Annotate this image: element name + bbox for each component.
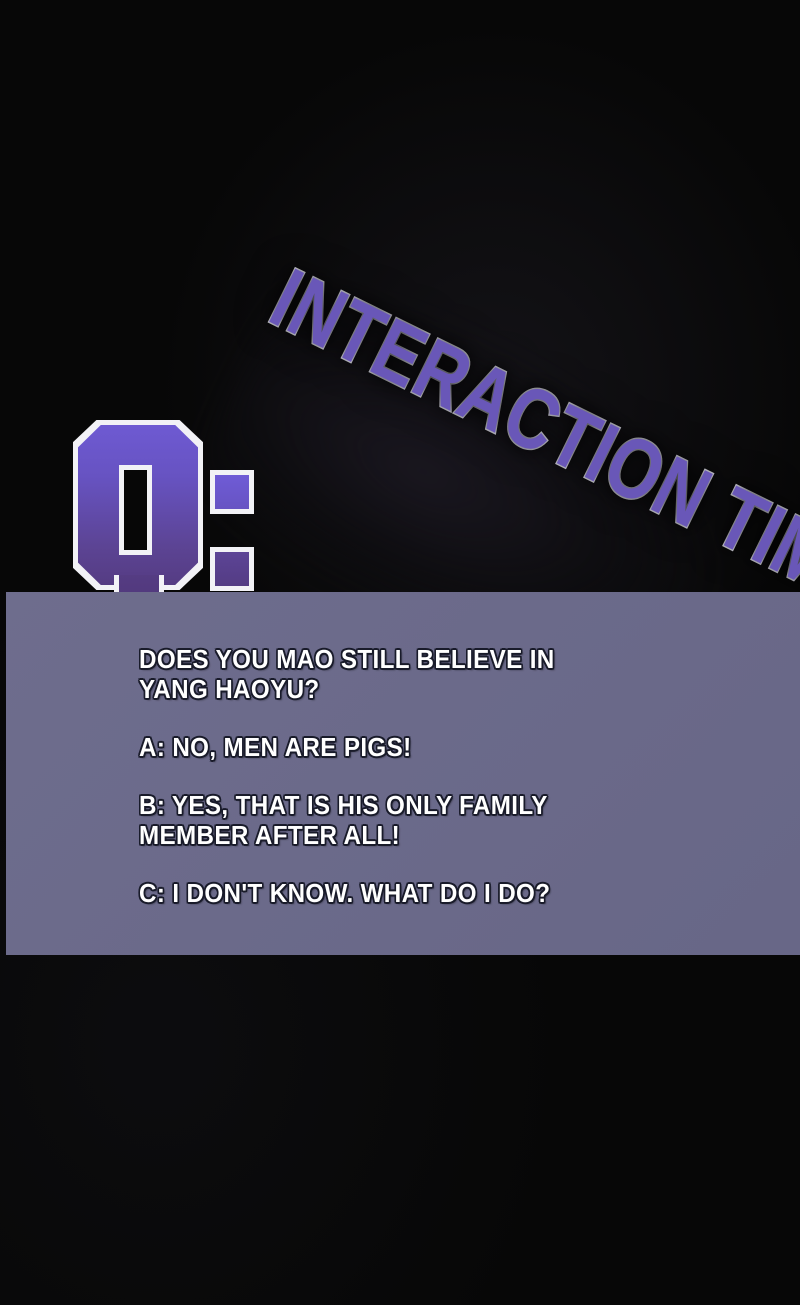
colon-top-square — [210, 470, 254, 514]
question-marker-q-colon — [78, 425, 278, 620]
headline-interaction-time: INTERACTION TIME — [259, 255, 800, 649]
colon-bottom-square — [210, 547, 254, 591]
spacer — [139, 850, 759, 878]
question-panel-text: DOES YOU MAO STILL BELIEVE IN YANG HAOYU… — [139, 644, 759, 908]
question-prompt: DOES YOU MAO STILL BELIEVE IN YANG HAOYU… — [139, 644, 716, 704]
q-letter-counter — [124, 470, 147, 550]
answer-option-c: C: I DON'T KNOW. WHAT DO I DO? — [139, 878, 716, 908]
question-panel: DOES YOU MAO STILL BELIEVE IN YANG HAOYU… — [6, 592, 800, 955]
answer-option-b: B: YES, THAT IS HIS ONLY FAMILY MEMBER A… — [139, 790, 716, 850]
spacer — [139, 762, 759, 790]
spacer — [139, 704, 759, 732]
comic-panel-page: INTERACTION TIME DOES YOU MAO STILL BELI… — [0, 0, 800, 1305]
headline-text: INTERACTION TIME — [256, 249, 800, 630]
answer-option-a: A: NO, MEN ARE PIGS! — [139, 732, 716, 762]
